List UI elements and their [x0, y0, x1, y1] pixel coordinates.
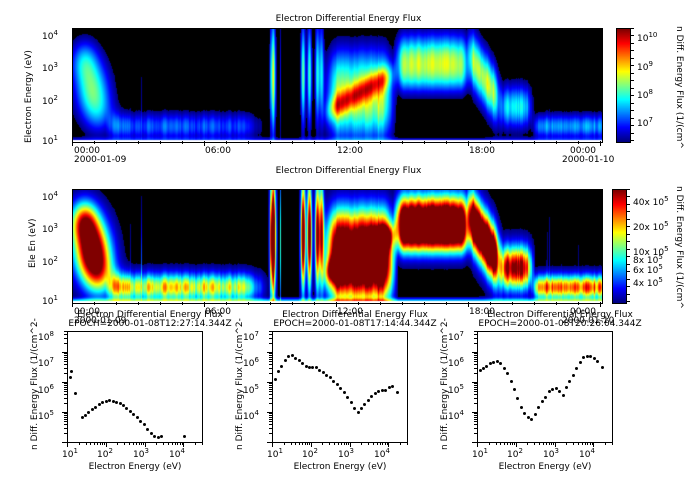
bottom-2-xtick-2: 103: [338, 447, 354, 460]
bottom-1-ytick-0: 108: [38, 330, 54, 343]
top-spectrogram: [72, 28, 603, 143]
data-point: [329, 376, 332, 379]
bottom-panel-1-xlabel: Electron Energy (eV): [60, 462, 210, 472]
data-point: [582, 356, 585, 359]
middle-ytick-4: 104: [42, 190, 58, 203]
data-point: [534, 413, 537, 416]
data-point: [305, 365, 308, 368]
bottom-2-ytick-0: 107: [243, 330, 259, 343]
data-point: [551, 388, 554, 391]
data-point: [572, 374, 575, 377]
top-colorbar-label: n Diff. Energy Flux (1/(cm^: [674, 26, 684, 149]
middle-ytick-2: 102: [42, 255, 58, 268]
data-point: [146, 428, 149, 431]
data-point: [384, 389, 387, 392]
bottom-3-ytick-2: 105: [448, 383, 464, 396]
data-point: [391, 385, 394, 388]
bottom-3-xtick-2: 103: [543, 447, 559, 460]
data-point: [353, 407, 356, 410]
bottom-2-ytick-3: 104: [243, 409, 259, 422]
top-xtick-label-1: 06:00: [205, 146, 231, 156]
data-point: [70, 370, 73, 373]
middle-panel-title: Electron Differential Energy Flux: [0, 166, 697, 176]
bottom-1-xtick-0: 101: [62, 447, 78, 460]
bottom-2-ytick-1: 106: [243, 356, 259, 369]
data-point: [350, 401, 353, 404]
top-xtick-date-0: 2000-01-09: [74, 155, 126, 165]
data-point: [98, 403, 101, 406]
top-ytick-1: 101: [42, 134, 58, 147]
middle-colorbar-ticks: [625, 189, 630, 302]
bottom-2-xtick-3: 104: [374, 447, 390, 460]
data-point: [74, 392, 77, 395]
bottom-1-ytick-3: 105: [38, 409, 54, 422]
data-point: [339, 387, 342, 390]
bottom-3-yaxis-ticks: [472, 331, 477, 443]
bottom-1-xtick-1: 102: [97, 447, 113, 460]
data-point: [91, 408, 94, 411]
data-point: [523, 412, 526, 415]
data-point: [396, 391, 399, 394]
top-ytick-3: 103: [42, 61, 58, 74]
data-point: [143, 423, 146, 426]
data-point: [325, 374, 328, 377]
data-point: [108, 399, 111, 402]
bottom-1-ytick-2: 106: [38, 383, 54, 396]
bottom-3-ytick-3: 104: [448, 409, 464, 422]
data-point: [94, 406, 97, 409]
data-point: [367, 399, 370, 402]
data-point: [558, 390, 561, 393]
data-point: [357, 411, 360, 414]
middle-spectrogram: [72, 189, 603, 304]
data-point: [548, 390, 551, 393]
bottom-plot-2: [272, 331, 408, 443]
top-panel-ylabel: Electron Energy (eV): [24, 50, 34, 143]
bottom-1-yaxis-ticks: [62, 331, 67, 443]
bottom-3-xtick-0: 101: [472, 447, 488, 460]
data-point: [132, 413, 135, 416]
data-point: [544, 396, 547, 399]
bottom-3-ytick-0: 107: [448, 330, 464, 343]
top-colorbar-ticks: [629, 28, 634, 141]
bottom-plot-1: [67, 331, 203, 443]
data-point: [136, 416, 139, 419]
middle-ytick-3: 103: [42, 222, 58, 235]
top-xtick-label-2: 12:00: [337, 146, 363, 156]
data-point: [568, 380, 571, 383]
data-point: [277, 370, 280, 373]
bottom-panel-3-subtitle: EPOCH=2000-01-08T20:26:04.344Z: [450, 319, 670, 329]
bottom-2-xtick-0: 101: [267, 447, 283, 460]
data-point: [579, 361, 582, 364]
data-point: [346, 396, 349, 399]
data-point: [284, 359, 287, 362]
data-point: [555, 387, 558, 390]
bottom-panel-3-xlabel: Electron Energy (eV): [470, 462, 620, 472]
top-cbar-tick-2: 108: [637, 88, 653, 101]
data-point: [377, 390, 380, 393]
top-xtick-label-3: 18:00: [469, 146, 495, 156]
data-point: [360, 407, 363, 410]
middle-cbar-tick-0: 40x 105: [633, 195, 669, 208]
data-point: [291, 354, 294, 357]
data-point: [503, 367, 506, 370]
data-point: [125, 407, 128, 410]
data-point: [101, 401, 104, 404]
middle-ytick-1: 101: [42, 294, 58, 307]
top-ytick-4: 104: [42, 29, 58, 42]
bottom-3-ytick-1: 106: [448, 356, 464, 369]
data-point: [139, 420, 142, 423]
data-point: [129, 410, 132, 413]
data-point: [84, 414, 87, 417]
data-point: [332, 380, 335, 383]
data-point: [489, 362, 492, 365]
data-point: [318, 369, 321, 372]
data-point: [274, 378, 277, 381]
data-point: [506, 372, 509, 375]
data-point: [485, 365, 488, 368]
top-cbar-tick-1: 109: [637, 60, 653, 73]
data-point: [183, 435, 186, 438]
middle-cbar-tick-5: 4x 105: [633, 276, 663, 289]
middle-cbar-tick-4: 6x 105: [633, 263, 663, 276]
top-cbar-tick-0: 1010: [637, 31, 657, 44]
bottom-3-xtick-1: 102: [507, 447, 523, 460]
data-point: [601, 366, 604, 369]
data-point: [537, 406, 540, 409]
data-point: [87, 411, 90, 414]
data-point: [596, 360, 599, 363]
data-point: [343, 391, 346, 394]
data-point: [575, 367, 578, 370]
data-point: [370, 395, 373, 398]
data-point: [301, 362, 304, 365]
top-panel-title: Electron Differential Energy Flux: [0, 14, 697, 24]
data-point: [115, 401, 118, 404]
data-point: [541, 400, 544, 403]
top-cbar-tick-3: 107: [637, 116, 653, 129]
bottom-panel-2-xlabel: Electron Energy (eV): [265, 462, 415, 472]
data-point: [593, 357, 596, 360]
data-point: [520, 406, 523, 409]
data-point: [153, 435, 156, 438]
data-point: [510, 380, 513, 383]
top-xtick-date-4: 2000-01-10: [562, 155, 614, 165]
middle-colorbar-label: n Diff. Energy Flux (1/(cm^: [674, 186, 684, 309]
data-point: [294, 357, 297, 360]
data-point: [280, 365, 283, 368]
data-point: [336, 383, 339, 386]
data-point: [69, 376, 72, 379]
bottom-panel-2-subtitle: EPOCH=2000-01-08T17:14:44.344Z: [245, 319, 465, 329]
bottom-1-xtick-2: 103: [133, 447, 149, 460]
bottom-2-xtick-1: 102: [302, 447, 318, 460]
bottom-1-xtick-3: 104: [169, 447, 185, 460]
data-point: [565, 386, 568, 389]
bottom-3-xtick-3: 104: [579, 447, 595, 460]
bottom-2-yaxis-ticks: [267, 331, 272, 443]
data-point: [516, 397, 519, 400]
data-point: [513, 388, 516, 391]
data-point: [160, 435, 163, 438]
middle-panel-ylabel: Ele En (eV): [28, 218, 38, 268]
data-point: [530, 418, 533, 421]
bottom-1-ytick-1: 107: [38, 356, 54, 369]
bottom-2-ytick-2: 105: [243, 383, 259, 396]
data-point: [562, 394, 565, 397]
data-point: [589, 355, 592, 358]
bottom-panel-1-subtitle: EPOCH=2000-01-08T12:27:14.344Z: [40, 319, 260, 329]
data-point: [499, 362, 502, 365]
bottom-plot-3: [477, 331, 613, 443]
data-point: [363, 403, 366, 406]
top-ytick-2: 102: [42, 94, 58, 107]
middle-cbar-tick-1: 20x 105: [633, 220, 669, 233]
